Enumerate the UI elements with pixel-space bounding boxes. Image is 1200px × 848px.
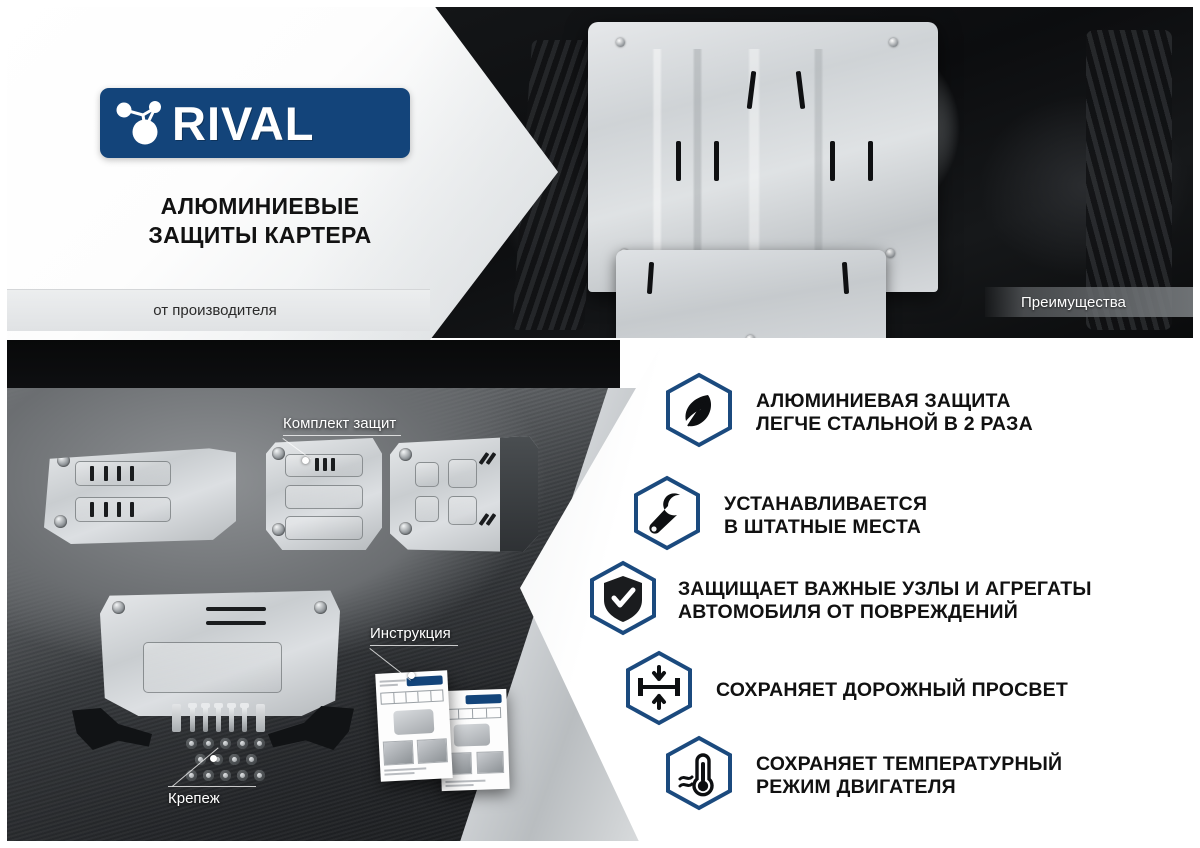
callout-manual-dot: [408, 672, 415, 679]
callout-kit-label: Комплект защит: [283, 415, 396, 432]
callout-manual-label: Инструкция: [370, 625, 451, 642]
wrench-icon: [632, 475, 702, 556]
callout-fasteners-label: Крепеж: [168, 790, 220, 807]
callout-fasteners: Крепеж: [168, 786, 256, 807]
promo-banner: Преимущества RIVAL АЛЮМИНИЕВЫЕ ЗАЩИТЫ КА…: [0, 0, 1200, 848]
feature-item-clearance: СОХРАНЯЕТ ДОРОЖНЫЙ ПРОСВЕТ: [624, 650, 1184, 731]
callout-fasteners-dot: [210, 755, 217, 762]
divider-band: [0, 340, 620, 388]
callout-kit-dot: [302, 457, 309, 464]
callout-manual: Инструкция: [370, 625, 458, 646]
callout-rule: [168, 786, 256, 787]
feature-item-temperature: СОХРАНЯЕТ ТЕМПЕРАТУРНЫЙ РЕЖИМ ДВИГАТЕЛЯ: [664, 735, 1184, 816]
feature-label: ЗАЩИЩАЕТ ВАЖНЫЕ УЗЛЫ И АГРЕГАТЫ АВТОМОБИ…: [678, 578, 1092, 624]
skid-plate-2: [266, 438, 382, 550]
shield-check-icon: [588, 560, 658, 641]
advantages-tab-label: Преимущества: [1021, 294, 1126, 311]
feature-item-fitment: УСТАНАВЛИВАЕТСЯ В ШТАТНЫЕ МЕСТА: [632, 475, 1172, 556]
thermometer-icon: [664, 735, 734, 816]
feature-item-protection: ЗАЩИЩАЕТ ВАЖНЫЕ УЗЛЫ И АГРЕГАТЫ АВТОМОБИ…: [588, 560, 1188, 641]
page-title: АЛЮМИНИЕВЫЕ ЗАЩИТЫ КАРТЕРА: [40, 192, 480, 251]
skid-plate-3: [390, 436, 538, 552]
frame-left: [0, 0, 7, 848]
brand-name: RIVAL: [172, 100, 315, 147]
tyre-right: [1086, 30, 1172, 330]
clearance-icon: [624, 650, 694, 731]
feature-label: СОХРАНЯЕТ ДОРОЖНЫЙ ПРОСВЕТ: [716, 679, 1068, 702]
feature-label: АЛЮМИНИЕВАЯ ЗАЩИТА ЛЕГЧЕ СТАЛЬНОЙ В 2 РА…: [756, 390, 1033, 436]
leaf-icon: [664, 372, 734, 453]
brand-logo: RIVAL: [100, 88, 410, 158]
skid-plate-1: [44, 440, 236, 544]
installed-skid-plate-lower: [616, 250, 886, 338]
callout-rule: [370, 645, 458, 646]
subtitle-bar: от производителя: [0, 289, 430, 331]
feature-item-weight: АЛЮМИНИЕВАЯ ЗАЩИТА ЛЕГЧЕ СТАЛЬНОЙ В 2 РА…: [664, 372, 1184, 453]
feature-label: СОХРАНЯЕТ ТЕМПЕРАТУРНЫЙ РЕЖИМ ДВИГАТЕЛЯ: [756, 753, 1062, 799]
skid-plate-4: [100, 588, 340, 716]
frame-top: [0, 0, 1200, 7]
feature-label: УСТАНАВЛИВАЕТСЯ В ШТАТНЫЕ МЕСТА: [724, 493, 927, 539]
subtitle-text: от производителя: [153, 302, 276, 319]
frame-bottom: [0, 841, 1200, 848]
molecule-icon: [110, 93, 170, 153]
advantages-tab[interactable]: Преимущества: [985, 287, 1200, 317]
callout-rule: [283, 435, 401, 436]
callout-kit: Комплект защит: [283, 415, 401, 436]
manual-sheet-front: [375, 670, 453, 782]
frame-right: [1193, 0, 1200, 848]
